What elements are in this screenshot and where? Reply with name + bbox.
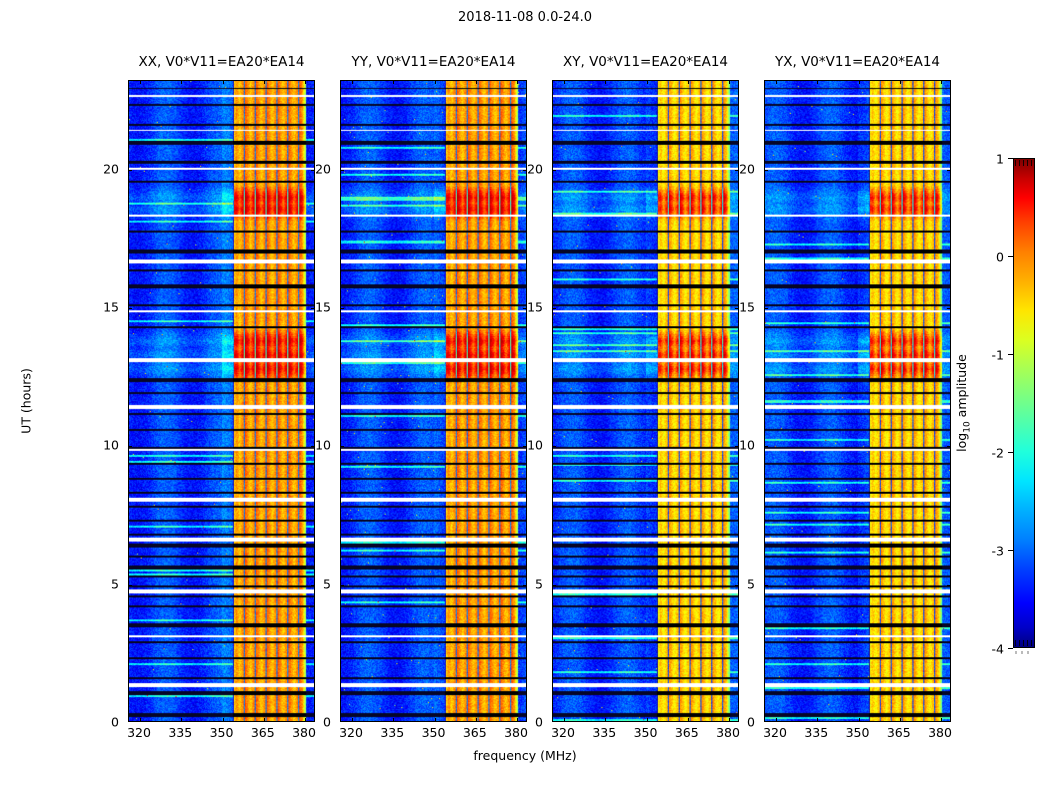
y-tick-mark — [128, 170, 132, 171]
y-tick-mark — [735, 585, 739, 586]
x-tick-mark — [817, 80, 818, 84]
colorbar-tick: -4 — [1008, 648, 1013, 649]
panel-xx: XX, V0*V11=EA20*EA14 3203353503653800510… — [128, 80, 315, 722]
y-tick-mark — [128, 585, 132, 586]
y-tick-label: 5 — [323, 576, 331, 591]
y-tick-mark — [552, 585, 556, 586]
panel-title-yx: YX, V0*V11=EA20*EA14 — [775, 54, 940, 70]
panel-title-xx: XX, V0*V11=EA20*EA14 — [138, 54, 304, 70]
spectrogram-xx — [129, 81, 314, 721]
x-tick-label: 365 — [251, 725, 275, 740]
x-tick-label: 380 — [504, 725, 528, 740]
x-tick-mark — [859, 718, 860, 722]
y-tick-label: 5 — [111, 576, 119, 591]
colorbar-tick: -1 — [1008, 354, 1013, 355]
spectrogram-yx — [765, 81, 950, 721]
x-tick-label: 350 — [846, 725, 870, 740]
x-tick-mark — [476, 718, 477, 722]
y-tick-label: 15 — [739, 299, 755, 314]
y-tick-label: 20 — [103, 161, 119, 176]
y-tick-mark — [128, 446, 132, 447]
y-tick-mark — [128, 308, 132, 309]
y-tick-label: 0 — [747, 715, 755, 730]
x-tick-label: 320 — [339, 725, 363, 740]
x-tick-label: 335 — [592, 725, 616, 740]
x-tick-label: 365 — [463, 725, 487, 740]
x-tick-mark — [305, 718, 306, 722]
axes-yy — [340, 80, 527, 722]
x-tick-mark — [564, 80, 565, 84]
x-tick-mark — [476, 80, 477, 84]
colorbar-tick-label: -4 — [992, 641, 1004, 656]
spectrogram-yy — [341, 81, 526, 721]
x-tick-mark — [517, 80, 518, 84]
y-tick-label: 0 — [535, 715, 543, 730]
x-tick-label: 380 — [716, 725, 740, 740]
x-axis-title: frequency (MHz) — [0, 748, 1050, 763]
x-tick-label: 380 — [928, 725, 952, 740]
x-tick-mark — [688, 718, 689, 722]
panel-yy: YY, V0*V11=EA20*EA14 3203353503653800510… — [340, 80, 527, 722]
x-tick-mark — [817, 718, 818, 722]
x-tick-label: 320 — [763, 725, 787, 740]
colorbar-tick-label: -2 — [992, 445, 1004, 460]
x-tick-label: 380 — [292, 725, 316, 740]
colorbar-underflow-dots — [1015, 651, 1033, 654]
x-tick-mark — [393, 80, 394, 84]
y-tick-mark — [947, 585, 951, 586]
panel-title-xy: XY, V0*V11=EA20*EA14 — [563, 54, 728, 70]
colorbar-tick: -2 — [1008, 452, 1013, 453]
y-tick-mark — [311, 585, 315, 586]
x-tick-label: 350 — [422, 725, 446, 740]
x-tick-mark — [181, 80, 182, 84]
y-tick-mark — [552, 446, 556, 447]
y-tick-label: 10 — [103, 438, 119, 453]
figure-suptitle: 2018-11-08 0.0-24.0 — [0, 10, 1050, 25]
x-tick-mark — [647, 80, 648, 84]
y-tick-label: 10 — [315, 438, 331, 453]
y-tick-label: 5 — [535, 576, 543, 591]
x-tick-mark — [605, 718, 606, 722]
x-tick-mark — [605, 80, 606, 84]
x-tick-mark — [900, 718, 901, 722]
colorbar-title: log10 amplitude — [954, 354, 973, 452]
panel-yx: YX, V0*V11=EA20*EA14 3203353503653800510… — [764, 80, 951, 722]
y-tick-label: 20 — [739, 161, 755, 176]
y-axis-title: UT (hours) — [19, 368, 34, 434]
y-tick-mark — [552, 170, 556, 171]
colorbar-tick-label: 1 — [996, 151, 1004, 166]
y-tick-mark — [947, 308, 951, 309]
x-tick-label: 350 — [210, 725, 234, 740]
y-tick-mark — [764, 446, 768, 447]
x-tick-mark — [223, 718, 224, 722]
x-tick-mark — [264, 718, 265, 722]
y-tick-label: 5 — [747, 576, 755, 591]
x-tick-label: 320 — [127, 725, 151, 740]
x-tick-label: 320 — [551, 725, 575, 740]
x-tick-mark — [776, 718, 777, 722]
y-tick-mark — [340, 446, 344, 447]
y-tick-label: 15 — [527, 299, 543, 314]
x-tick-mark — [140, 80, 141, 84]
y-tick-label: 0 — [111, 715, 119, 730]
colorbar-minor-ticks-top — [1015, 160, 1033, 166]
x-tick-mark — [223, 80, 224, 84]
x-tick-mark — [729, 718, 730, 722]
spectrogram-xy — [553, 81, 738, 721]
y-tick-mark — [552, 308, 556, 309]
colorbar-tick: -3 — [1008, 550, 1013, 551]
x-tick-mark — [688, 80, 689, 84]
x-tick-mark — [900, 80, 901, 84]
y-tick-label: 20 — [315, 161, 331, 176]
y-tick-label: 20 — [527, 161, 543, 176]
y-tick-mark — [764, 585, 768, 586]
colorbar-tick-label: 0 — [996, 249, 1004, 264]
x-tick-mark — [393, 718, 394, 722]
axes-yx — [764, 80, 951, 722]
colorbar-gradient — [1013, 158, 1035, 648]
x-tick-mark — [564, 718, 565, 722]
y-tick-mark — [947, 446, 951, 447]
x-tick-mark — [941, 80, 942, 84]
axes-xx — [128, 80, 315, 722]
colorbar: log10 amplitude 10-1-2-3-4 — [1013, 158, 1035, 648]
x-tick-mark — [435, 718, 436, 722]
y-tick-label: 0 — [323, 715, 331, 730]
panel-xy: XY, V0*V11=EA20*EA14 3203353503653800510… — [552, 80, 739, 722]
x-tick-mark — [647, 718, 648, 722]
x-tick-mark — [352, 718, 353, 722]
axes-xy — [552, 80, 739, 722]
y-tick-mark — [764, 170, 768, 171]
y-tick-label: 10 — [739, 438, 755, 453]
y-tick-mark — [764, 308, 768, 309]
colorbar-tick-label: -1 — [992, 347, 1004, 362]
x-tick-mark — [181, 718, 182, 722]
x-tick-mark — [729, 80, 730, 84]
y-tick-mark — [523, 585, 527, 586]
x-tick-mark — [941, 718, 942, 722]
y-tick-mark — [947, 170, 951, 171]
x-tick-label: 365 — [887, 725, 911, 740]
x-tick-label: 335 — [804, 725, 828, 740]
x-tick-mark — [264, 80, 265, 84]
colorbar-tick: 0 — [1008, 256, 1013, 257]
x-tick-label: 335 — [168, 725, 192, 740]
y-tick-mark — [340, 585, 344, 586]
x-tick-mark — [517, 718, 518, 722]
panel-title-yy: YY, V0*V11=EA20*EA14 — [351, 54, 515, 70]
y-tick-mark — [340, 308, 344, 309]
x-tick-mark — [140, 718, 141, 722]
colorbar-minor-ticks-bottom — [1015, 640, 1033, 646]
y-tick-mark — [340, 170, 344, 171]
colorbar-tick-label: -3 — [992, 543, 1004, 558]
x-tick-label: 335 — [380, 725, 404, 740]
y-tick-label: 15 — [103, 299, 119, 314]
x-tick-mark — [305, 80, 306, 84]
y-tick-label: 10 — [527, 438, 543, 453]
colorbar-tick: 1 — [1008, 158, 1013, 159]
figure-canvas: 2018-11-08 0.0-24.0 XX, V0*V11=EA20*EA14… — [0, 0, 1050, 800]
x-tick-mark — [352, 80, 353, 84]
x-tick-mark — [435, 80, 436, 84]
x-tick-label: 350 — [634, 725, 658, 740]
x-tick-mark — [859, 80, 860, 84]
x-tick-label: 365 — [675, 725, 699, 740]
y-tick-label: 15 — [315, 299, 331, 314]
x-tick-mark — [776, 80, 777, 84]
